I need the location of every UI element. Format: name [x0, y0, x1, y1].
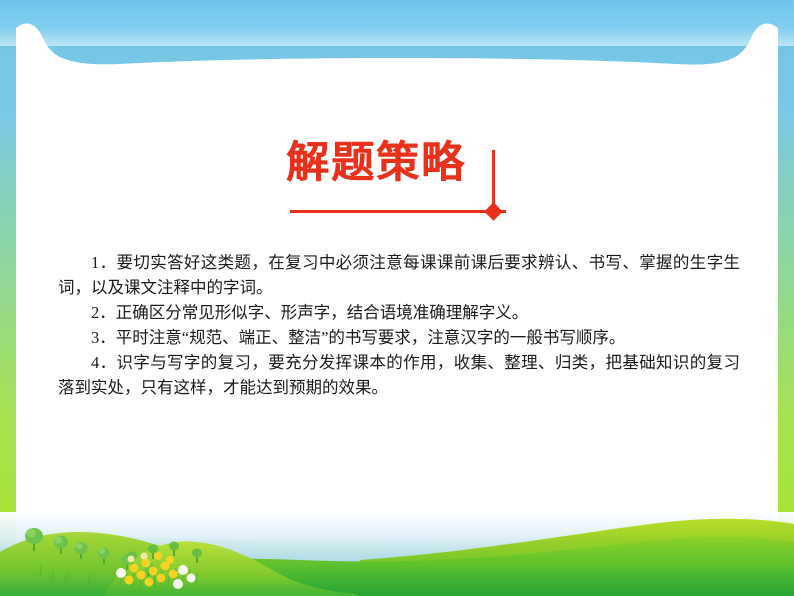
- paragraph-2: 2．正确区分常见形似字、形声字，结合语境准确理解字义。: [58, 300, 740, 325]
- paragraph-3: 3．平时注意“规范、端正、整洁”的书写要求，注意汉字的一般书写顺序。: [58, 325, 740, 350]
- body-text-block: 1．要切实答好这类题，在复习中必须注意每课课前课后要求辨认、书写、掌握的生字生词…: [58, 250, 740, 400]
- paragraph-1: 1．要切实答好这类题，在复习中必须注意每课课前课后要求辨认、书写、掌握的生字生词…: [58, 250, 740, 300]
- section-title-block: 解题策略: [286, 142, 516, 222]
- page-title: 解题策略: [286, 142, 466, 185]
- title-diamond-marker: [484, 202, 502, 220]
- paragraph-4: 4．识字与写字的复习，要充分发挥课本的作用，收集、整理、归类，把基础知识的复习落…: [58, 350, 740, 400]
- title-underline-horizontal: [290, 210, 506, 213]
- slide-canvas: 解题策略 1．要切实答好这类题，在复习中必须注意每课课前课后要求辨认、书写、掌握…: [0, 0, 794, 596]
